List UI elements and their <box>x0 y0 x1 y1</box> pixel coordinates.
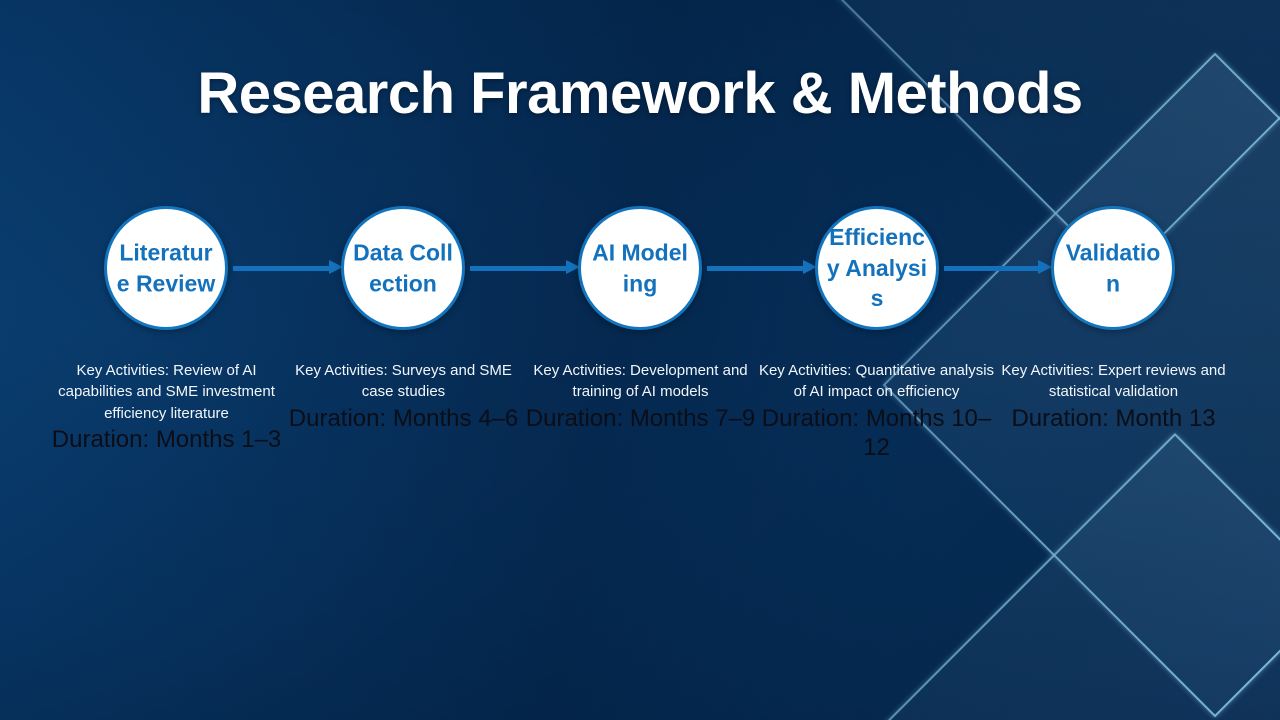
process-node-efficiency-analysis[interactable]: Efficiency Analysis <box>815 206 939 330</box>
arrow-shaft <box>233 266 330 271</box>
key-activities-text: Key Activities: Quantitative analysis of… <box>758 360 995 403</box>
process-node-label: Efficiency Analysis <box>826 222 928 314</box>
process-node-label: Data Collection <box>352 237 454 298</box>
key-activities-text: Key Activities: Review of AI capabilitie… <box>48 360 285 424</box>
duration-text: Duration: Months 7–9 <box>522 404 759 433</box>
process-node-validation[interactable]: Validation <box>1051 206 1175 330</box>
caption-row: Key Activities: Review of AI capabilitie… <box>0 360 1280 560</box>
process-node-data-collection[interactable]: Data Collection <box>341 206 465 330</box>
key-activities-text: Key Activities: Development and training… <box>522 360 759 403</box>
process-node-literature-review[interactable]: Literature Review <box>104 206 228 330</box>
caption-block-data-collection: Key Activities: Surveys and SME case stu… <box>285 360 522 433</box>
flow-arrow-4-icon <box>944 264 1052 272</box>
slide-title: Research Framework & Methods <box>0 60 1280 127</box>
process-node-label: Validation <box>1062 237 1164 298</box>
duration-text: Duration: Month 13 <box>995 404 1232 433</box>
process-node-ai-modeling[interactable]: AI Modeling <box>578 206 702 330</box>
key-activities-text: Key Activities: Expert reviews and stati… <box>995 360 1232 403</box>
arrow-shaft <box>707 266 804 271</box>
arrow-shaft <box>470 266 567 271</box>
process-flow-row: Literature Review Data Collection AI Mod… <box>0 196 1280 346</box>
duration-text: Duration: Months 10–12 <box>758 404 995 463</box>
arrow-shaft <box>944 266 1039 271</box>
duration-text: Duration: Months 1–3 <box>48 425 285 454</box>
flow-arrow-3-icon <box>707 264 817 272</box>
flow-arrow-2-icon <box>470 264 580 272</box>
caption-block-validation: Key Activities: Expert reviews and stati… <box>995 360 1232 433</box>
key-activities-text: Key Activities: Surveys and SME case stu… <box>285 360 522 403</box>
process-node-label: Literature Review <box>115 237 217 298</box>
process-node-label: AI Modeling <box>589 237 691 298</box>
slide-canvas: Research Framework & Methods Literature … <box>0 0 1280 720</box>
arrow-head <box>1038 260 1052 274</box>
caption-block-literature-review: Key Activities: Review of AI capabilitie… <box>48 360 285 454</box>
caption-block-ai-modeling: Key Activities: Development and training… <box>522 360 759 433</box>
duration-text: Duration: Months 4–6 <box>285 404 522 433</box>
flow-arrow-1-icon <box>233 264 343 272</box>
caption-block-efficiency-analysis: Key Activities: Quantitative analysis of… <box>758 360 995 462</box>
